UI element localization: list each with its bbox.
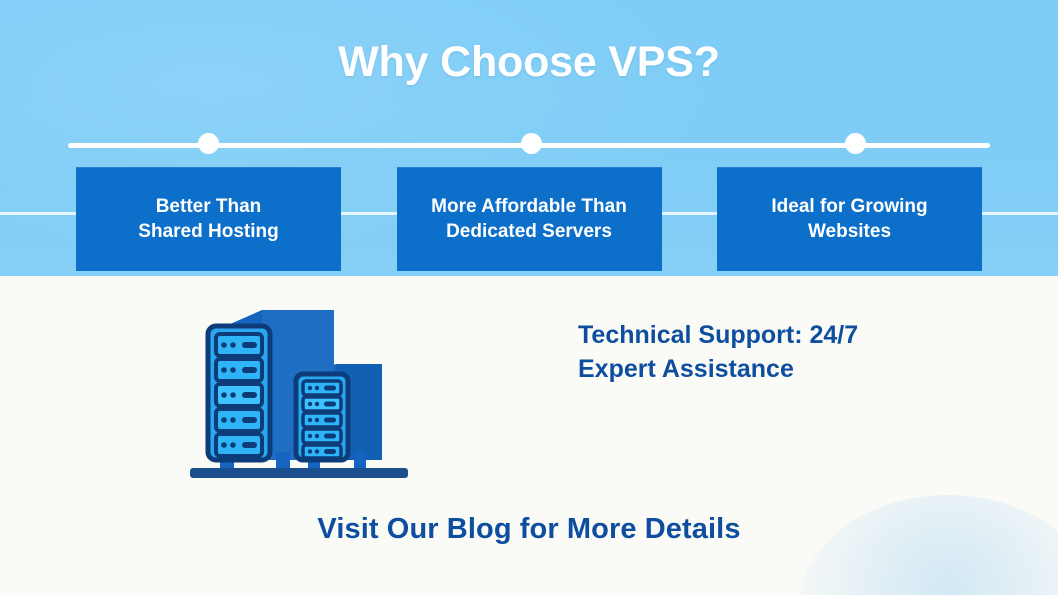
feature-card-1-label: Better Than Shared Hosting [130,194,286,244]
feature-card-list: Better Than Shared Hosting More Affordab… [76,167,982,271]
page-title: Why Choose VPS? [0,38,1058,87]
feature-card-3[interactable]: Ideal for Growing Websites [717,167,982,271]
cta-heading: Visit Our Blog for More Details [0,513,1058,546]
server-rack-illustration [186,302,412,488]
feature-card-3-label: Ideal for Growing Websites [763,194,935,244]
timeline-dot-2 [521,133,542,154]
timeline-dot-1 [198,133,219,154]
timeline [68,141,990,149]
support-heading: Technical Support: 24/7 Expert Assistanc… [578,318,998,386]
feature-card-2[interactable]: More Affordable Than Dedicated Servers [397,167,662,271]
feature-card-1[interactable]: Better Than Shared Hosting [76,167,341,271]
feature-card-2-label: More Affordable Than Dedicated Servers [423,194,635,244]
slide-canvas: Why Choose VPS? Better Than Shared Hosti… [0,0,1058,595]
timeline-dot-3 [845,133,866,154]
